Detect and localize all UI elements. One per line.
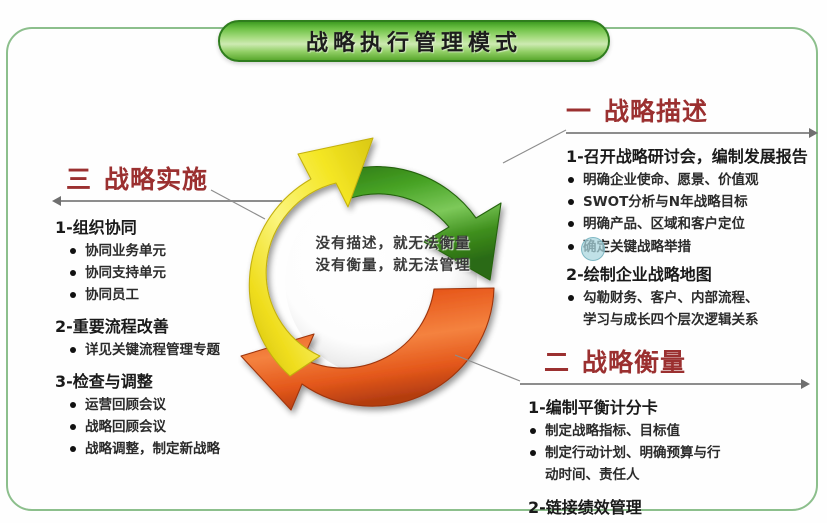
section-three-rule-bar <box>61 200 282 202</box>
section-one-title: 战略描述 <box>604 97 708 126</box>
section-two-numeral: 二 <box>544 348 570 377</box>
wheel-center-text: 没有描述，就无法衡量 没有衡量，就无法管理 <box>290 233 496 278</box>
highlight-bubble-icon <box>581 237 605 261</box>
section-one-arrowhead <box>809 128 818 138</box>
list-item: 详见关键流程管理专题 <box>68 341 282 359</box>
section-three-strategy-implementation: 三战略实施 1-组织协同 协同业务单元 协同支持单元 协同员工 2-重要流程改善… <box>52 160 282 459</box>
diagram-canvas: 战略执行管理模式 <box>0 0 827 523</box>
list-item: 明确产品、区域和客户定位 <box>566 215 818 233</box>
section-one-group-1-list: 明确企业使命、愿景、价值观 SWOT分析与N年战略目标 明确产品、区域和客户定位… <box>566 171 818 256</box>
list-item: 动时间、责任人 <box>528 466 810 484</box>
center-line-1: 没有描述，就无法衡量 <box>290 233 496 255</box>
list-item: 协同支持单元 <box>68 264 282 282</box>
list-item: 运营回顾会议 <box>68 396 282 414</box>
section-three-heading: 三战略实施 <box>52 160 282 196</box>
list-item: 战略回顾会议 <box>68 418 282 436</box>
section-three-arrowhead <box>52 196 61 206</box>
section-three-group-1-title: 1-组织协同 <box>52 214 282 238</box>
section-three-title: 战略实施 <box>104 165 208 194</box>
list-item: 协同员工 <box>68 286 282 304</box>
section-two-heading: 二战略衡量 <box>520 343 810 379</box>
section-two-group-1-list: 制定战略指标、目标值 制定行动计划、明确预算与行 动时间、责任人 <box>520 422 810 485</box>
section-three-group-1-list: 协同业务单元 协同支持单元 协同员工 <box>52 242 282 305</box>
section-three-numeral: 三 <box>66 165 92 194</box>
list-item: SWOT分析与N年战略目标 <box>566 193 818 211</box>
section-three-group-3-list: 运营回顾会议 战略回顾会议 战略调整，制定新战略 <box>52 396 282 459</box>
list-item: 协同业务单元 <box>68 242 282 260</box>
list-item: 制定战略指标、目标值 <box>528 422 810 440</box>
section-two-rule-bar <box>520 383 801 385</box>
section-one-group-2-list: 勾勒财务、客户、内部流程、 学习与成长四个层次逻辑关系 <box>566 289 818 329</box>
section-two-title: 战略衡量 <box>582 348 686 377</box>
section-three-group-2-list: 详见关键流程管理专题 <box>52 341 282 359</box>
section-two-strategy-measurement: 二战略衡量 1-编制平衡计分卡 制定战略指标、目标值 制定行动计划、明确预算与行… <box>520 343 810 518</box>
center-line-2: 没有衡量，就无法管理 <box>290 255 496 277</box>
page-title: 战略执行管理模式 <box>306 25 522 57</box>
list-item: 学习与成长四个层次逻辑关系 <box>566 311 818 329</box>
section-one-rule-bar <box>566 132 809 134</box>
section-one-heading: 一战略描述 <box>566 92 818 128</box>
section-one-strategy-description: 一战略描述 1-召开战略研讨会，编制发展报告 明确企业使命、愿景、价值观 SWO… <box>566 92 818 329</box>
list-item: 确定关键战略举措 <box>566 238 818 256</box>
section-three-group-2-title: 2-重要流程改善 <box>52 313 282 337</box>
section-two-rule <box>520 379 810 389</box>
section-one-group-2-title: 2-绘制企业战略地图 <box>566 261 818 285</box>
list-item: 战略调整，制定新战略 <box>68 440 282 458</box>
section-one-numeral: 一 <box>566 97 592 126</box>
section-two-group-2-title: 2-链接绩效管理 <box>520 494 810 518</box>
list-item: 明确企业使命、愿景、价值观 <box>566 171 818 189</box>
section-three-rule <box>52 196 282 206</box>
section-one-rule <box>566 128 818 138</box>
section-three-group-3-title: 3-检查与调整 <box>52 368 282 392</box>
list-item: 勾勒财务、客户、内部流程、 <box>566 289 818 307</box>
section-two-group-1-title: 1-编制平衡计分卡 <box>520 394 810 418</box>
section-two-arrowhead <box>801 379 810 389</box>
diagram-title-banner: 战略执行管理模式 <box>218 20 610 62</box>
list-item: 制定行动计划、明确预算与行 <box>528 444 810 462</box>
section-one-group-1-title: 1-召开战略研讨会，编制发展报告 <box>566 143 818 167</box>
